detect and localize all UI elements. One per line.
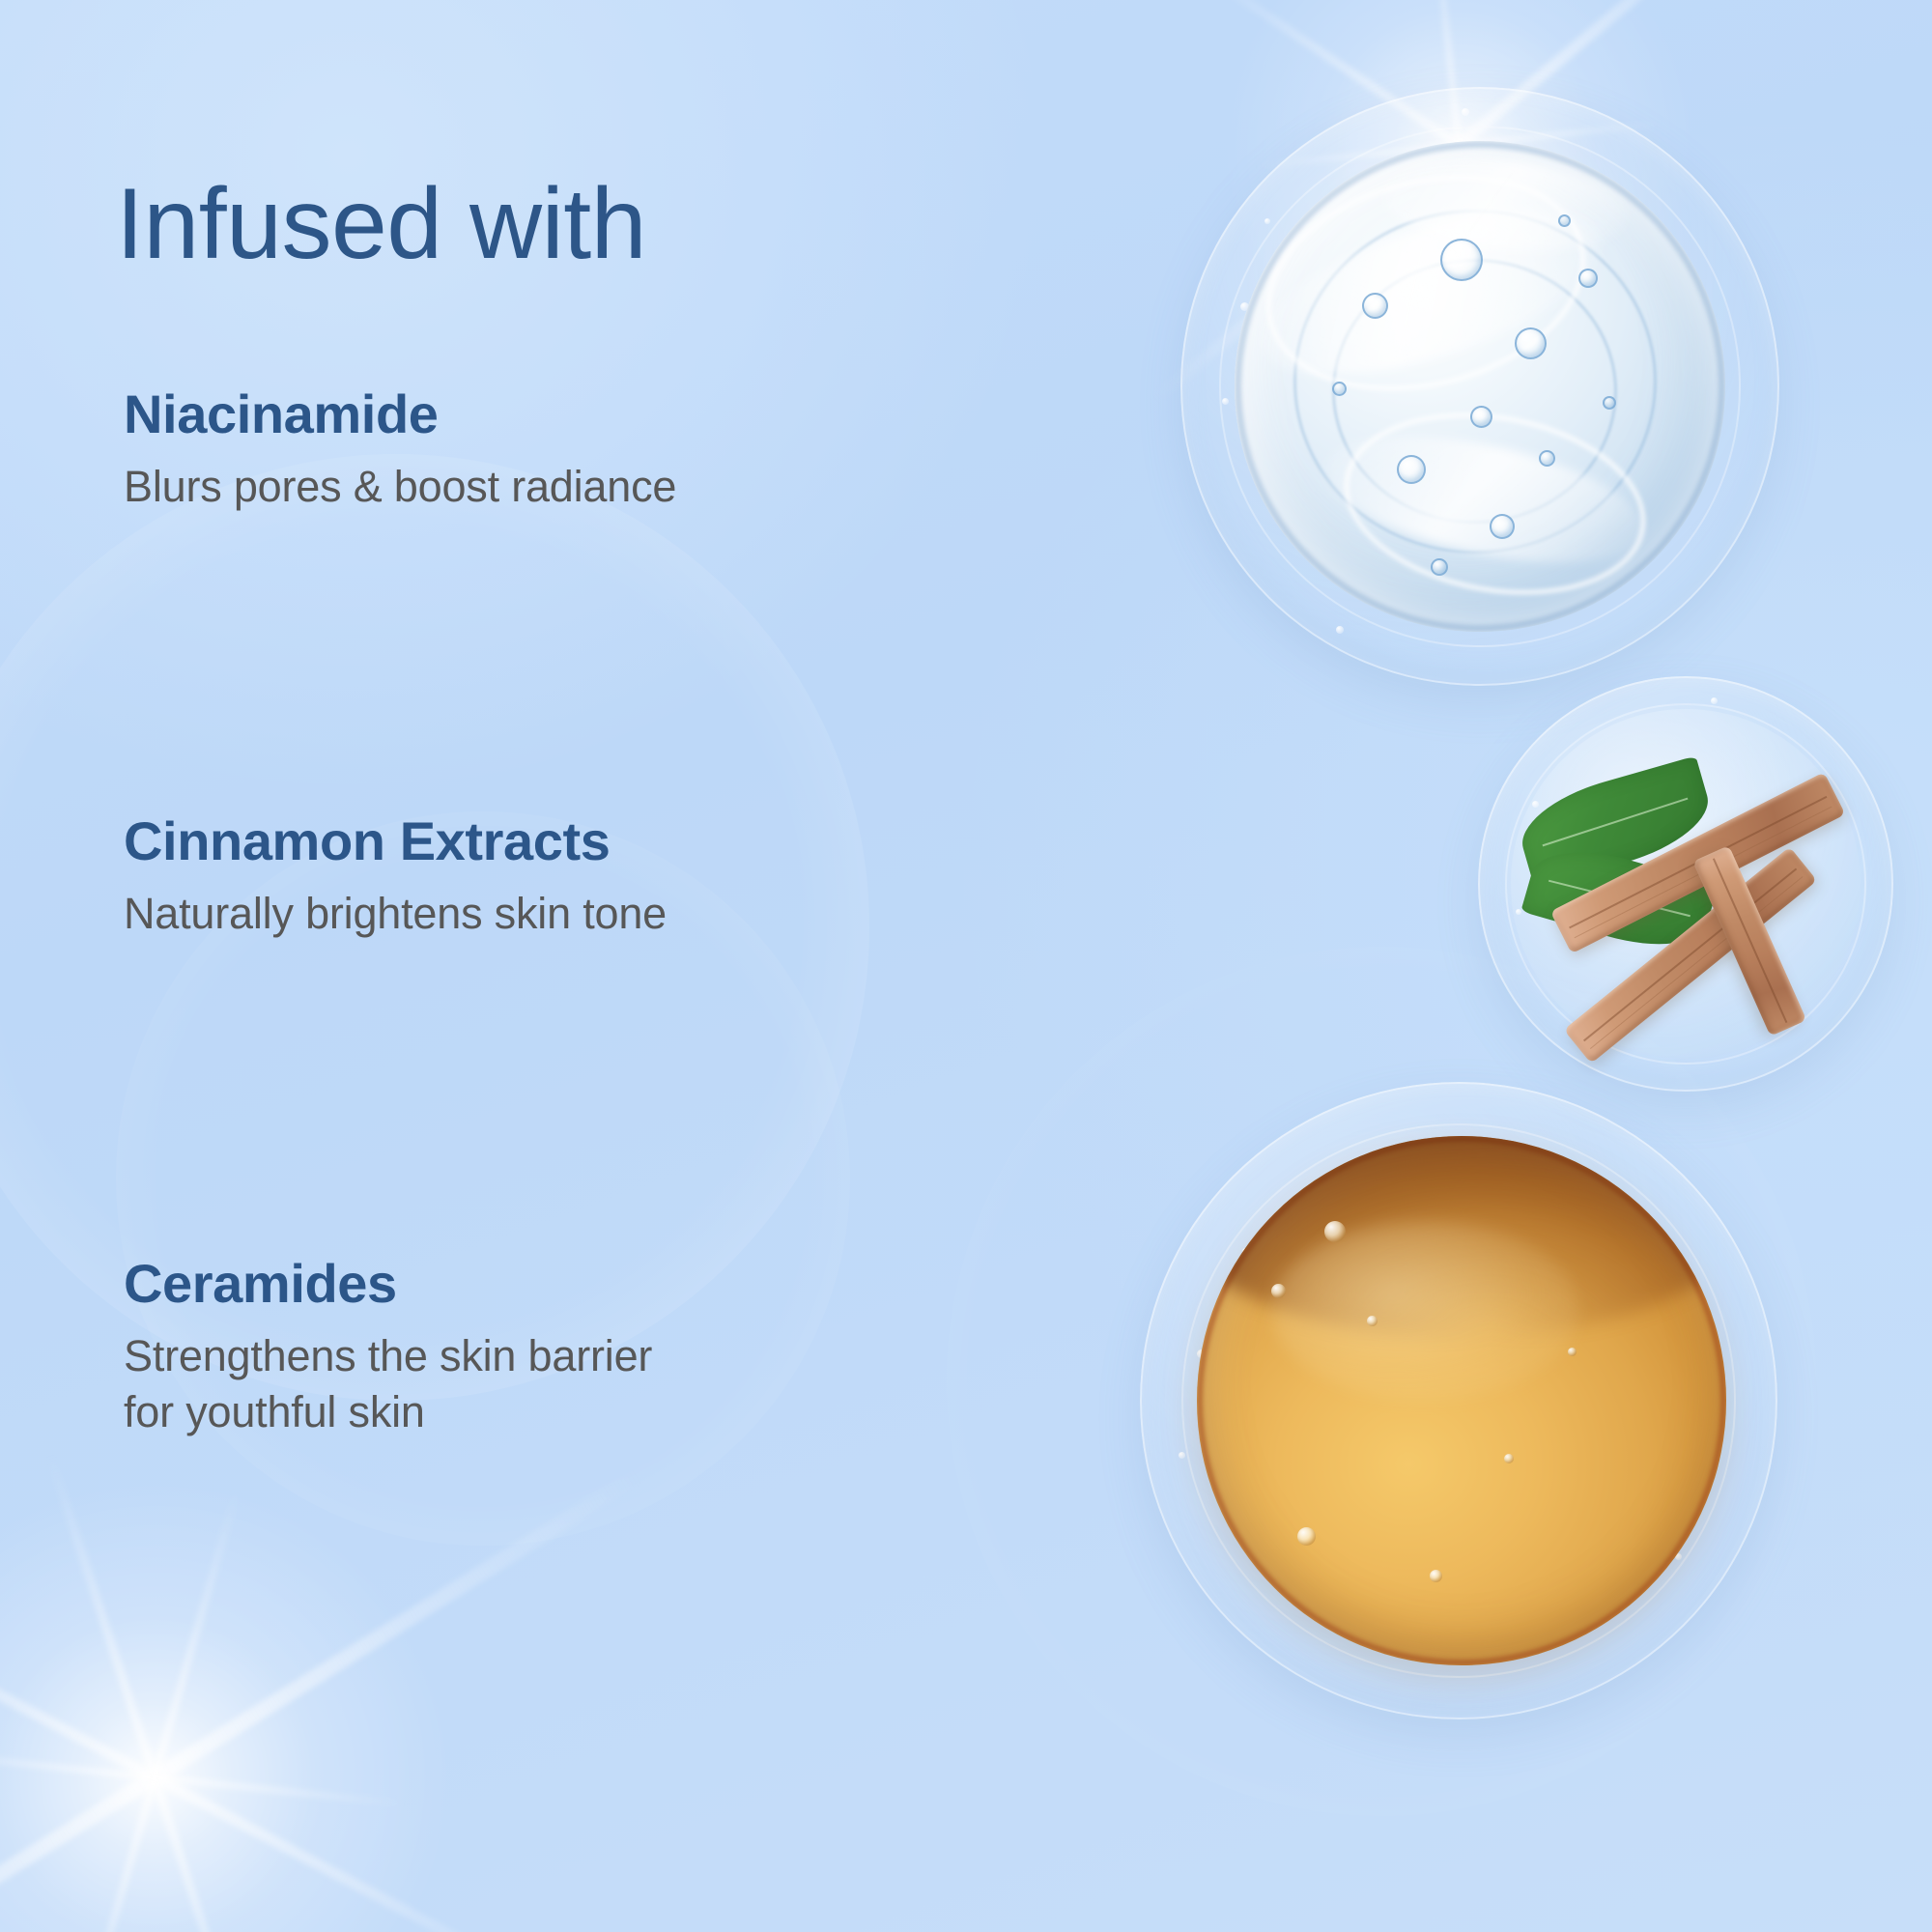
amber-honey-petri-dish <box>1140 1082 1777 1719</box>
honey-bubble <box>1504 1454 1514 1463</box>
cinnamon-petri-dish <box>1478 676 1893 1092</box>
gel-bubble <box>1470 406 1492 428</box>
honey-bubble <box>1367 1316 1378 1326</box>
honey-bubble <box>1324 1221 1346 1242</box>
rim-bubble <box>1516 909 1521 915</box>
gel-substance <box>1235 141 1725 632</box>
ingredient-description-line-2: for youthful skin <box>124 1384 887 1441</box>
ingredient-item-cinnamon-extracts: Cinnamon Extracts Naturally brightens sk… <box>124 811 916 942</box>
ingredient-description: Naturally brightens skin tone <box>124 886 887 943</box>
ingredient-name: Cinnamon Extracts <box>124 811 916 872</box>
gel-bubble <box>1397 455 1426 484</box>
ingredient-description: Strengthens the skin barrier for youthfu… <box>124 1328 887 1441</box>
ingredient-description-line-1: Strengthens the skin barrier <box>124 1328 887 1385</box>
infused-with-infographic: Infused with Niacinamide Blurs pores & b… <box>0 0 1932 1932</box>
ingredient-item-niacinamide: Niacinamide Blurs pores & boost radiance <box>124 384 916 515</box>
rim-bubble <box>1532 801 1539 808</box>
honey-bubble <box>1568 1348 1577 1356</box>
gel-bubble <box>1539 450 1555 467</box>
gel-bubble <box>1431 558 1448 576</box>
ingredient-list: Infused with Niacinamide Blurs pores & b… <box>116 0 947 1932</box>
clear-gel-petri-dish <box>1180 87 1779 686</box>
rim-bubble <box>1179 1452 1185 1459</box>
rim-bubble <box>1711 697 1718 704</box>
page-title: Infused with <box>116 172 646 277</box>
honey-substance <box>1197 1136 1726 1665</box>
ingredient-description: Blurs pores & boost radiance <box>124 459 887 516</box>
ingredient-name: Ceramides <box>124 1254 916 1315</box>
gel-bubble <box>1515 327 1547 359</box>
ingredient-name: Niacinamide <box>124 384 916 445</box>
ingredient-item-ceramides: Ceramides Strengthens the skin barrier f… <box>124 1254 916 1441</box>
gel-bubble <box>1578 269 1598 288</box>
